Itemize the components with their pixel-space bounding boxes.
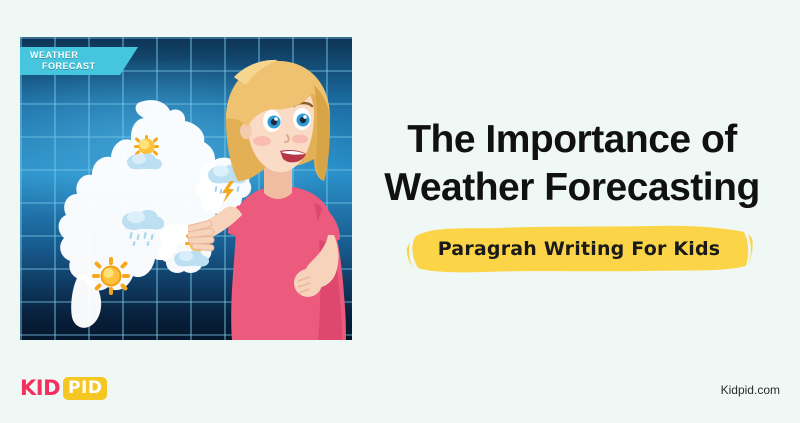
title-line-1: The Importance of xyxy=(372,116,772,164)
sun-behind-cloud-icon xyxy=(124,135,170,171)
website-url[interactable]: Kidpid.com xyxy=(721,383,780,397)
sun-icon xyxy=(92,257,130,295)
subtitle-highlight: Paragrah Writing For Kids xyxy=(404,222,754,276)
subtitle-text: Paragrah Writing For Kids xyxy=(404,222,754,276)
weather-presenter-girl xyxy=(188,55,352,340)
banner-root: WEATHER FORECAST xyxy=(0,0,800,423)
kidpid-logo[interactable]: KID PID xyxy=(20,377,107,399)
logo-kid-text: KID xyxy=(20,376,60,400)
title-line-2: Weather Forecasting xyxy=(372,164,772,212)
rain-cloud-icon xyxy=(120,205,168,247)
page-title: The Importance of Weather Forecasting xyxy=(372,116,772,212)
illustration-panel: WEATHER FORECAST xyxy=(20,37,352,340)
logo-pid-badge: PID xyxy=(63,377,107,400)
